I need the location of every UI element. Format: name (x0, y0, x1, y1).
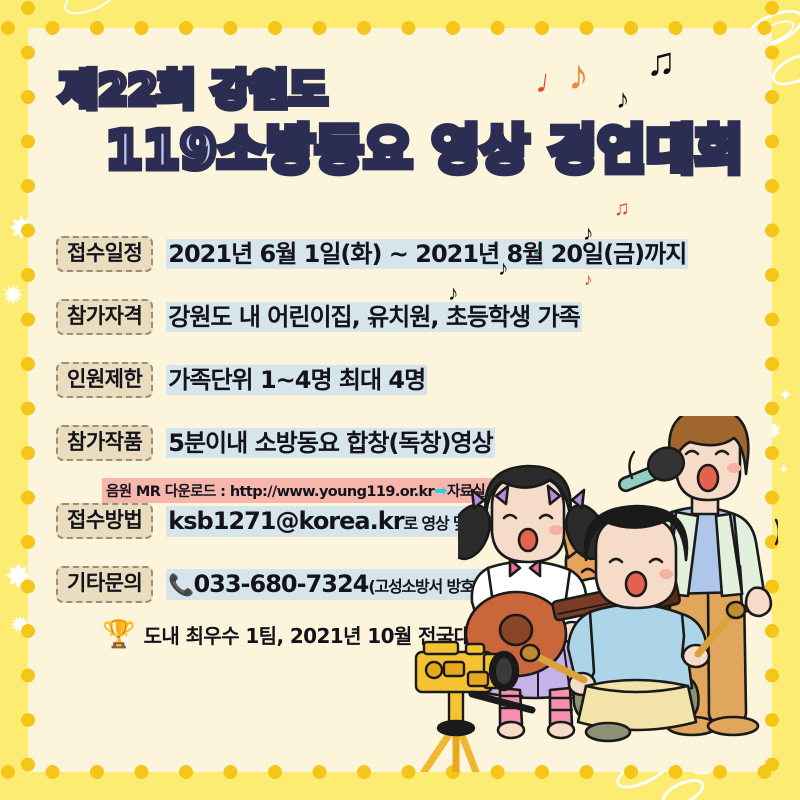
poster: ✸ ✦ ✹ ✦ ✸ ✹ ✸ ✦ ✹ ✦ 제22회 강원도 119소방동요 영상 … (0, 0, 800, 800)
row-label-submission: 접수방법 (56, 503, 153, 539)
music-note-icon: ♪ (448, 283, 459, 304)
music-note-icon: ♩ (534, 64, 572, 102)
sparkle-icon: ✦ (778, 386, 793, 404)
music-note-icon: ♪ (584, 271, 593, 288)
music-note-icon: ♪ (568, 54, 589, 96)
music-note-icon: ♫ (646, 42, 676, 82)
camera-tripod-illustration (380, 632, 570, 772)
music-note-icon: ♪ (498, 258, 509, 279)
row-value-team-size: 가족단위 1~4명 최대 4명 (166, 365, 427, 395)
music-note-icon: ♫ (614, 198, 630, 219)
mr-prefix-label: 음원 MR 다운로드 : (106, 484, 230, 500)
mr-url-link[interactable]: http://www.young119.or.kr (230, 484, 434, 500)
row-value-entry-work: 5분이내 소방동요 합창(독창)영상 (166, 428, 494, 458)
row-label-eligibility: 참가자격 (56, 299, 153, 335)
swirl-decoration (59, 0, 124, 21)
row-value-schedule: 2021년 6월 1일(화) ~ 2021년 8월 20일(금)까지 (166, 239, 688, 269)
row-label-inquiry: 기타문의 (56, 566, 153, 602)
trophy-icon: 🏆 (102, 621, 136, 648)
info-row: 접수일정 2021년 6월 1일(화) ~ 2021년 8월 20일(금)까지 (56, 236, 746, 272)
phone-number[interactable]: 033-680-7324 (193, 570, 368, 598)
music-note-icon: ♩ (533, 238, 554, 259)
music-note-icon: ♩ (368, 313, 384, 329)
music-note-icon: ♪ (616, 86, 630, 113)
music-note-icon: ♪ (583, 223, 594, 244)
arrow-right-icon: ➡ (434, 481, 447, 500)
info-row: 참가자격 강원도 내 어린이집, 유치원, 초등학생 가족 (56, 299, 746, 335)
email-address[interactable]: ksb1271@korea.kr (168, 507, 403, 535)
row-label-entry-work: 참가작품 (56, 425, 153, 461)
row-label-schedule: 접수일정 (56, 236, 153, 272)
page-title-line1: 제22회 강원도 (60, 56, 328, 116)
row-label-team-size: 인원제한 (56, 362, 153, 398)
page-title-line2: 119소방동요 영상 경연대회 (106, 108, 744, 183)
info-row: 인원제한 가족단위 1~4명 최대 4명 (56, 362, 746, 398)
phone-icon: 📞 (168, 573, 193, 597)
poster-content: 제22회 강원도 119소방동요 영상 경연대회 ♩ ♪ ♪ ♫ 접수일정 20… (28, 28, 772, 772)
